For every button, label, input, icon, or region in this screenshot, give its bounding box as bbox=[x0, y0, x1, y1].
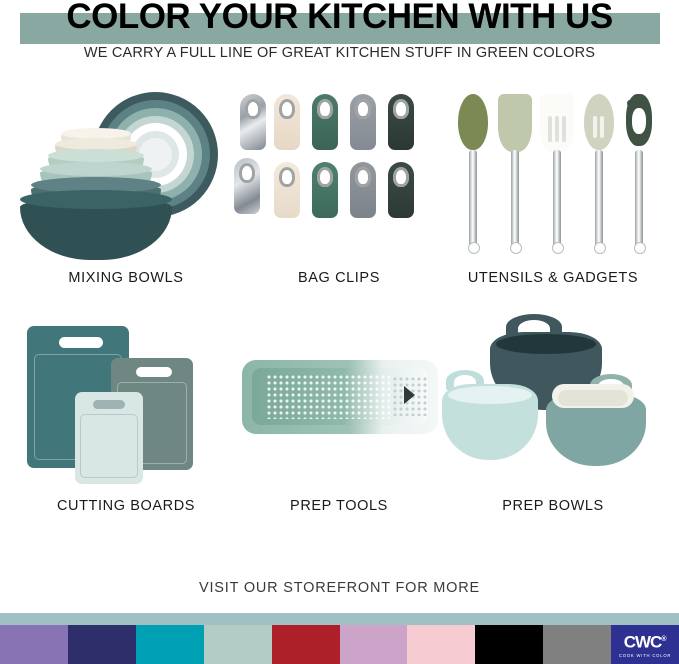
product-cell-cutting-boards[interactable]: CUTTING BOARDS bbox=[13, 308, 239, 533]
product-label: PREP BOWLS bbox=[440, 498, 666, 514]
logo-tagline: COOK WITH COLOR bbox=[619, 653, 671, 658]
logo-mark-text: CWC bbox=[624, 633, 662, 652]
swatch-navy bbox=[68, 625, 136, 664]
registered-mark: ® bbox=[661, 636, 666, 643]
product-cell-utensils[interactable]: UTENSILS & GADGETS bbox=[440, 80, 666, 305]
mixing-bowls-image bbox=[13, 80, 239, 265]
swatch-purple bbox=[0, 625, 68, 664]
utensils-image bbox=[440, 80, 666, 265]
swatch-sage bbox=[204, 625, 272, 664]
brand-logo[interactable]: CWC® COOK WITH COLOR bbox=[611, 625, 679, 664]
swatch-teal bbox=[136, 625, 204, 664]
color-swatch-bar: CWC® COOK WITH COLOR bbox=[0, 625, 679, 664]
footer-accent-strip bbox=[0, 613, 679, 625]
logo-wordmark: CWC® bbox=[624, 631, 667, 651]
storefront-cta[interactable]: VISIT OUR STOREFRONT FOR MORE bbox=[0, 580, 679, 596]
product-label: MIXING BOWLS bbox=[13, 270, 239, 286]
cutting-boards-image bbox=[13, 308, 239, 493]
product-cell-prep-bowls[interactable]: PREP BOWLS bbox=[440, 308, 666, 533]
product-cell-bag-clips[interactable]: BAG CLIPS bbox=[226, 80, 452, 305]
swatch-blush-pink bbox=[407, 625, 475, 664]
product-cell-prep-tools[interactable]: PREP TOOLS bbox=[226, 308, 452, 533]
product-grid: MIXING BOWLS BAG CLIPS bbox=[0, 80, 679, 550]
swatch-orchid bbox=[340, 625, 408, 664]
page-title: COLOR YOUR KITCHEN WITH US bbox=[0, 0, 679, 38]
page-subtitle: WE CARRY A FULL LINE OF GREAT KITCHEN ST… bbox=[0, 45, 679, 61]
product-label: BAG CLIPS bbox=[226, 270, 452, 286]
swatch-red bbox=[272, 625, 340, 664]
swatch-gray bbox=[543, 625, 611, 664]
swatch-black bbox=[475, 625, 543, 664]
product-label: CUTTING BOARDS bbox=[13, 498, 239, 514]
bag-clips-image bbox=[226, 80, 452, 265]
product-label: UTENSILS & GADGETS bbox=[440, 270, 666, 286]
product-label: PREP TOOLS bbox=[226, 498, 452, 514]
prep-tools-image bbox=[226, 308, 452, 493]
header: COLOR YOUR KITCHEN WITH US WE CARRY A FU… bbox=[0, 0, 679, 70]
prep-bowls-image bbox=[440, 308, 666, 493]
product-cell-mixing-bowls[interactable]: MIXING BOWLS bbox=[13, 80, 239, 305]
